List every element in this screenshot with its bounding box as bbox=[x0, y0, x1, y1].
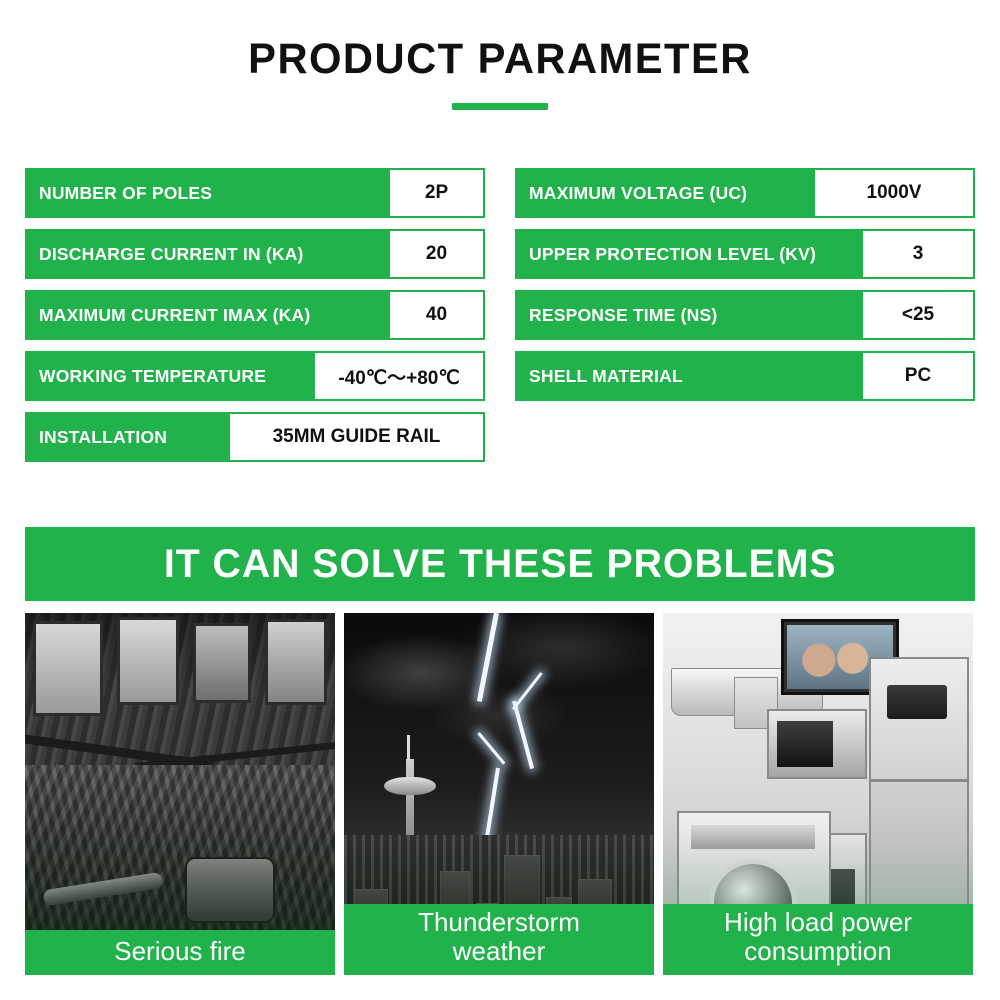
spec-label: MAXIMUM CURRENT IMAX (KA) bbox=[25, 290, 390, 340]
problem-caption: High load power consumption bbox=[663, 904, 973, 975]
spec-value: 1000V bbox=[815, 168, 975, 218]
spec-value: <25 bbox=[863, 290, 975, 340]
problem-cell-serious-fire: Serious fire bbox=[25, 613, 335, 975]
problem-caption-line1: Thunderstorm bbox=[344, 908, 654, 937]
spec-value: PC bbox=[863, 351, 975, 401]
spec-value: 20 bbox=[390, 229, 485, 279]
product-parameter-page: PRODUCT PARAMETER NUMBER OF POLES 2P DIS… bbox=[0, 0, 1000, 1000]
problem-caption-line1: High load power bbox=[663, 908, 973, 937]
spec-row: INSTALLATION 35MM GUIDE RAIL bbox=[25, 412, 485, 462]
spec-value: 2P bbox=[390, 168, 485, 218]
problem-cell-thunderstorm-weather: Thunderstorm weather bbox=[344, 613, 654, 975]
problem-image-strip: Serious fire bbox=[25, 613, 975, 975]
spec-row: DISCHARGE CURRENT IN (KA) 20 bbox=[25, 229, 485, 279]
spec-label: WORKING TEMPERATURE bbox=[25, 351, 315, 401]
image-gradient-overlay bbox=[25, 613, 335, 975]
spec-value: -40℃～+80℃ bbox=[315, 351, 485, 401]
title-underline bbox=[452, 103, 548, 110]
spec-label: MAXIMUM VOLTAGE (UC) bbox=[515, 168, 815, 218]
problems-banner-text: IT CAN SOLVE THESE PROBLEMS bbox=[164, 542, 837, 587]
spec-label: UPPER PROTECTION LEVEL (KV) bbox=[515, 229, 863, 279]
spec-row: WORKING TEMPERATURE -40℃～+80℃ bbox=[25, 351, 485, 401]
spec-row: MAXIMUM VOLTAGE (UC) 1000V bbox=[515, 168, 975, 218]
spec-value: 3 bbox=[863, 229, 975, 279]
spec-label: SHELL MATERIAL bbox=[515, 351, 863, 401]
spec-row: UPPER PROTECTION LEVEL (KV) 3 bbox=[515, 229, 975, 279]
spec-column-right: MAXIMUM VOLTAGE (UC) 1000V UPPER PROTECT… bbox=[515, 168, 975, 462]
spec-label: INSTALLATION bbox=[25, 412, 230, 462]
spec-row: RESPONSE TIME (NS) <25 bbox=[515, 290, 975, 340]
problem-caption-line2: weather bbox=[344, 937, 654, 966]
spec-column-left: NUMBER OF POLES 2P DISCHARGE CURRENT IN … bbox=[25, 168, 485, 462]
problem-caption: Thunderstorm weather bbox=[344, 904, 654, 975]
spec-label: DISCHARGE CURRENT IN (KA) bbox=[25, 229, 390, 279]
spec-table: NUMBER OF POLES 2P DISCHARGE CURRENT IN … bbox=[25, 168, 975, 462]
spec-row: MAXIMUM CURRENT IMAX (KA) 40 bbox=[25, 290, 485, 340]
problem-caption-line2: consumption bbox=[663, 937, 973, 966]
problem-cell-high-load-power: High load power consumption bbox=[663, 613, 973, 975]
spec-value: 40 bbox=[390, 290, 485, 340]
burned-room-image bbox=[25, 613, 335, 975]
page-title: PRODUCT PARAMETER bbox=[15, 0, 985, 84]
spec-value: 35MM GUIDE RAIL bbox=[230, 412, 485, 462]
spec-label: RESPONSE TIME (NS) bbox=[515, 290, 863, 340]
spec-row: NUMBER OF POLES 2P bbox=[25, 168, 485, 218]
problem-caption: Serious fire bbox=[25, 930, 335, 975]
spec-label: NUMBER OF POLES bbox=[25, 168, 390, 218]
problems-banner: IT CAN SOLVE THESE PROBLEMS bbox=[25, 527, 975, 601]
spec-row: SHELL MATERIAL PC bbox=[515, 351, 975, 401]
